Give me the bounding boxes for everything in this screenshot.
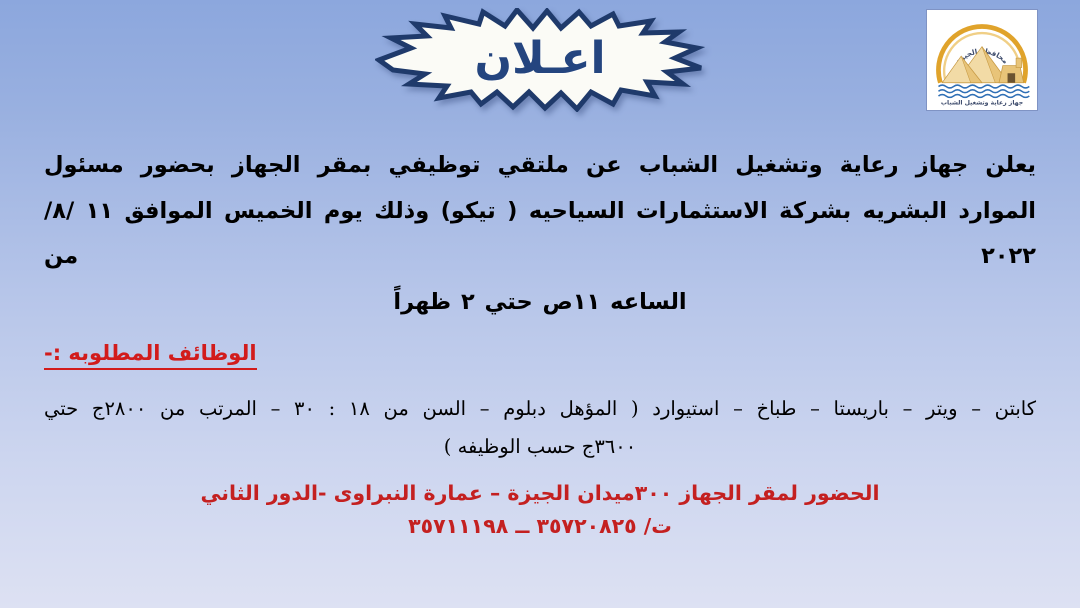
poster-content: يعلن جهاز رعاية وتشغيل الشباب عن ملتقي ت… [0, 143, 1080, 538]
required-jobs-heading: الوظائف المطلوبه :- [44, 340, 1036, 370]
title-starburst-banner: اعـلان [375, 8, 705, 112]
poster-header: اعـلان محافظة الجيزة [0, 0, 1080, 130]
jobs-line: كابتن – ويتر – باريستا – طباخ – استيوارد… [44, 397, 1036, 420]
announcement-paragraph: يعلن جهاز رعاية وتشغيل الشباب عن ملتقي ت… [44, 143, 1036, 326]
jobs-line-tail: ٣٦٠٠ج حسب الوظيفه ) [44, 428, 1036, 466]
venue-address: الحضور لمقر الجهاز ٣٠٠ميدان الجيزة – عما… [44, 478, 1036, 510]
paragraph-line-3: الساعه ١١ص حتي ٢ ظهراً [44, 280, 1036, 326]
contact-phones: ت/ ٣٥٧٢٠٨٢٥ ــ ٣٥٧١١١٩٨ [44, 514, 1036, 538]
announcement-poster: اعـلان محافظة الجيزة [0, 0, 1080, 608]
required-jobs-heading-text: الوظائف المطلوبه :- [44, 340, 257, 370]
giza-logo-icon: محافظة الجيزة جهاز رعاية وتشغيل ا [929, 12, 1035, 108]
logo-bottom-text: جهاز رعاية وتشغيل الشباب [941, 99, 1023, 106]
organization-logo: محافظة الجيزة جهاز رعاية وتشغيل ا [926, 9, 1038, 111]
paragraph-line-2: البشريه بشركة الاستثمارات السياحيه ( تيك… [44, 198, 1036, 270]
jobs-description: كابتن – ويتر – باريستا – طباخ – استيوارد… [44, 390, 1036, 466]
page-title: اعـلان [474, 37, 605, 81]
